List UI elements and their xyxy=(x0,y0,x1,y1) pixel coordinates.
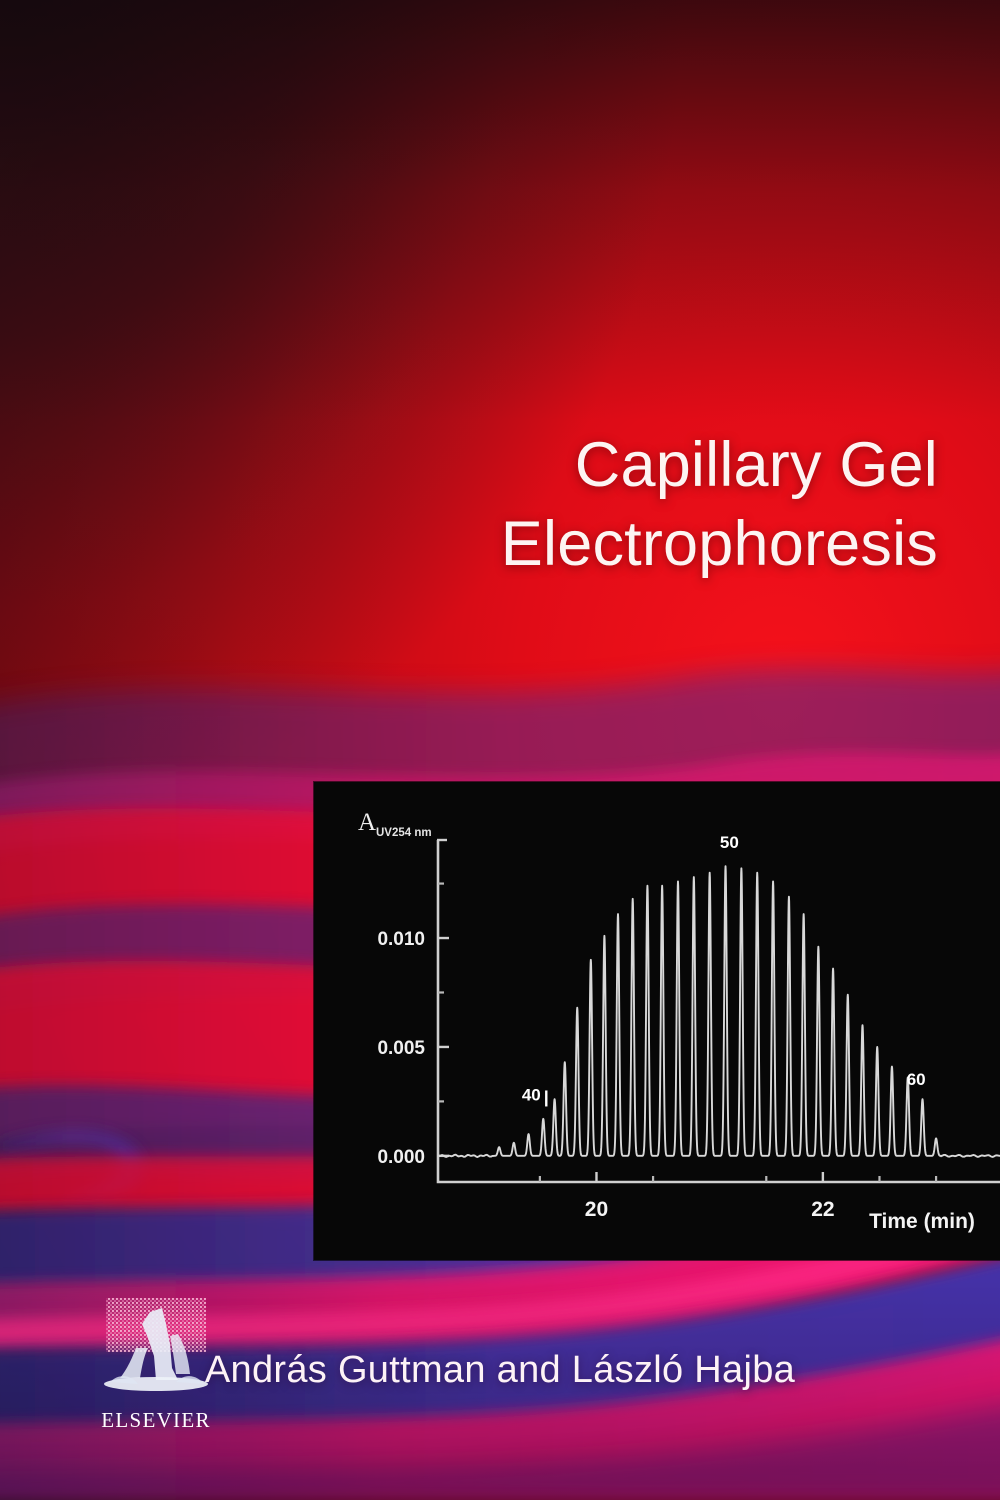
elsevier-tree-icon xyxy=(92,1294,220,1406)
title-line-2: Electrophoresis xyxy=(238,505,938,584)
y-axis-label-subscript: UV254 nm xyxy=(376,827,432,839)
peak-label: 60 xyxy=(907,1070,926,1089)
elsevier-logo: ELSEVIER xyxy=(92,1294,220,1433)
y-tick-label: 0.000 xyxy=(377,1147,425,1168)
electropherogram-figure: A UV254 nm 0.0000.0050.010 2022 405060 T… xyxy=(314,782,1000,1260)
title-line-1: Capillary Gel xyxy=(575,430,938,500)
background-top-shade xyxy=(0,0,1000,420)
book-cover: Capillary Gel Electrophoresis A UV254 nm… xyxy=(0,0,1000,1500)
y-tick-label: 0.005 xyxy=(377,1038,425,1059)
x-axis-title: Time (min) xyxy=(869,1210,975,1233)
chart-background xyxy=(314,782,1000,1260)
peak-label: 40 xyxy=(522,1085,541,1104)
y-axis-label: A xyxy=(358,809,376,836)
book-title: Capillary Gel Electrophoresis xyxy=(238,426,938,585)
y-tick-label: 0.010 xyxy=(377,929,425,950)
peak-label: 50 xyxy=(720,833,739,852)
x-tick-label: 20 xyxy=(585,1198,608,1221)
x-tick-label: 22 xyxy=(811,1198,834,1221)
elsevier-wordmark: ELSEVIER xyxy=(92,1408,220,1433)
